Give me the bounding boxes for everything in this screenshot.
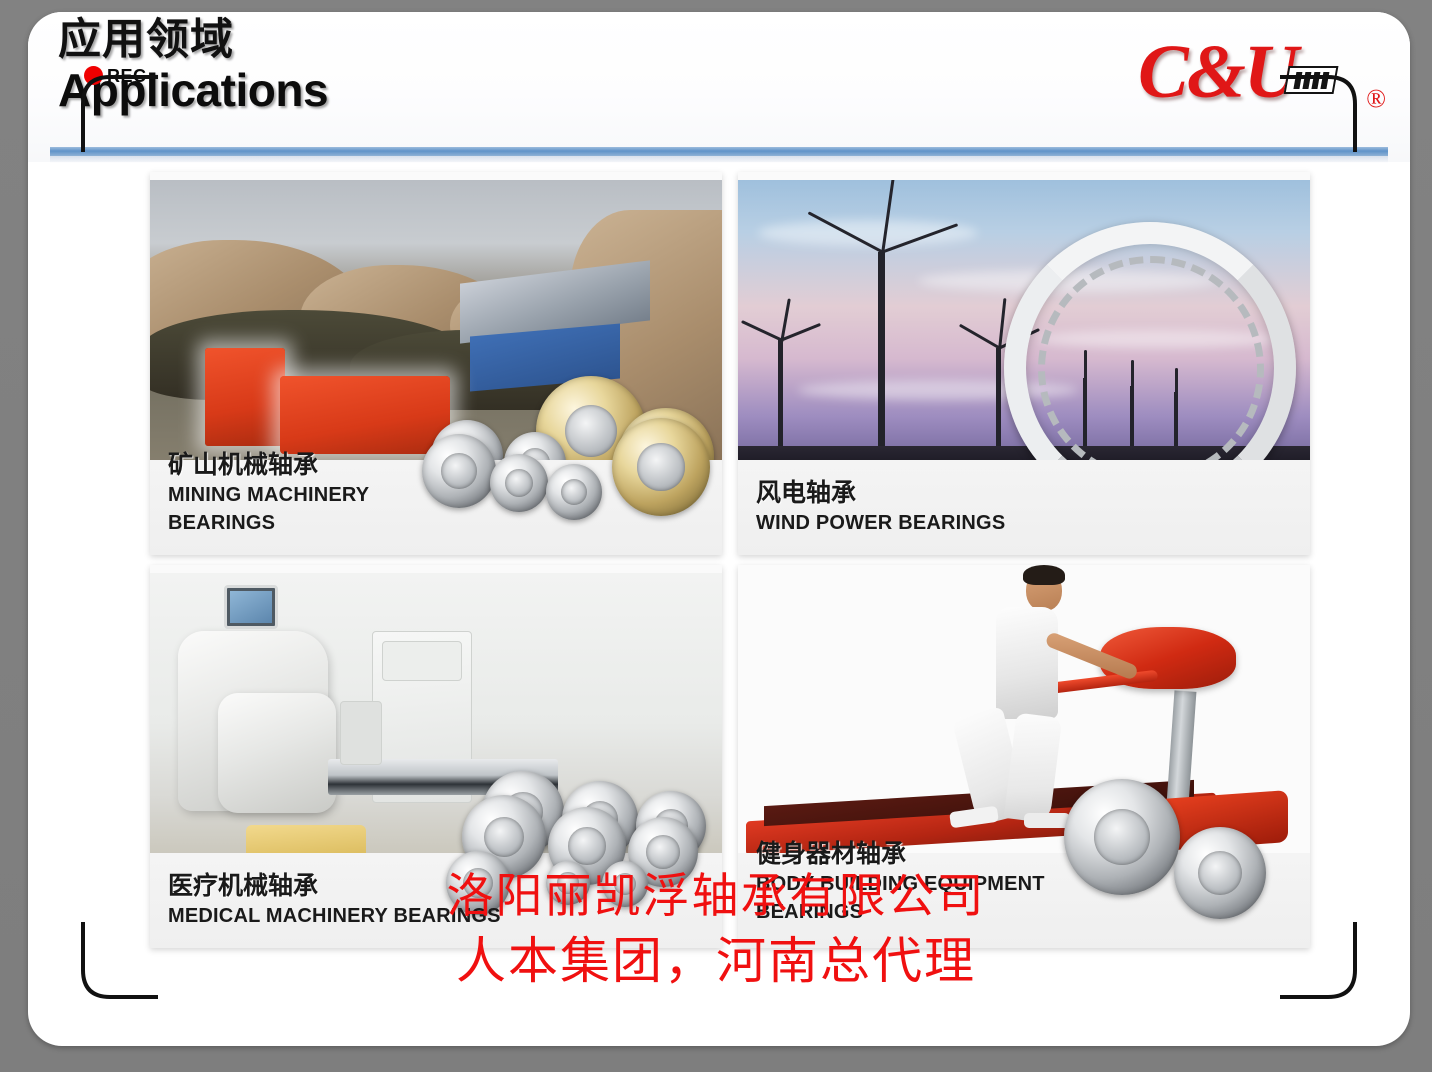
application-card-wind[interactable]: 风电轴承 WIND POWER BEARINGS bbox=[738, 172, 1310, 555]
bearing-overlay bbox=[1064, 779, 1180, 895]
card-photo-fitness bbox=[738, 565, 1310, 871]
bearing-overlay bbox=[546, 861, 590, 905]
header-divider bbox=[50, 147, 1388, 156]
card-title-cn: 健身器材轴承 bbox=[756, 839, 1045, 869]
card-title-en-1: MEDICAL MACHINERY BEARINGS bbox=[168, 904, 501, 928]
applications-grid: 矿山机械轴承 MINING MACHINERY BEARINGS bbox=[150, 172, 1310, 948]
application-card-mining[interactable]: 矿山机械轴承 MINING MACHINERY BEARINGS bbox=[150, 172, 722, 555]
card-title-cn: 矿山机械轴承 bbox=[168, 450, 369, 480]
bearing-overlay bbox=[546, 464, 602, 520]
application-card-medical[interactable]: 医疗机械轴承 MEDICAL MACHINERY BEARINGS bbox=[150, 565, 722, 948]
application-card-fitness[interactable]: 健身器材轴承 BODY BUILDING EQUIPMENT BEARINGS bbox=[738, 565, 1310, 948]
rec-indicator: REC bbox=[84, 66, 147, 85]
card-title-en-2: BEARINGS bbox=[168, 511, 369, 535]
card-photo-wind bbox=[738, 180, 1310, 468]
card-caption-wind: 风电轴承 WIND POWER BEARINGS bbox=[756, 478, 1005, 536]
bearing-overlay bbox=[490, 454, 548, 512]
card-caption-mining: 矿山机械轴承 MINING MACHINERY BEARINGS bbox=[168, 450, 369, 536]
wind-scene bbox=[738, 180, 1310, 468]
page-title-en: Applications bbox=[58, 67, 958, 113]
corner-bracket-bottom-left bbox=[80, 922, 158, 1000]
card-caption-medical: 医疗机械轴承 MEDICAL MACHINERY BEARINGS bbox=[168, 871, 501, 929]
medical-scene bbox=[150, 573, 722, 861]
fitness-scene bbox=[738, 565, 1310, 871]
rec-label: REC bbox=[107, 67, 147, 85]
card-title-en-1: WIND POWER BEARINGS bbox=[756, 511, 1005, 535]
card-title-en-2: BEARINGS bbox=[756, 900, 1045, 924]
slide-panel: 应用领域 Applications REC C&U ® bbox=[28, 12, 1410, 1046]
card-photo-medical bbox=[150, 573, 722, 861]
card-title-cn: 风电轴承 bbox=[756, 478, 1005, 508]
registered-trademark-icon: ® bbox=[1366, 86, 1386, 112]
bearing-overlay bbox=[612, 418, 710, 516]
bearing-bars-icon bbox=[1284, 66, 1339, 94]
record-dot-icon bbox=[84, 66, 103, 85]
card-title-en-1: BODY BUILDING EQUIPMENT bbox=[756, 872, 1045, 896]
bearing-overlay bbox=[1174, 827, 1266, 919]
logo-wordmark: C&U bbox=[1138, 34, 1297, 110]
card-title-cn: 医疗机械轴承 bbox=[168, 871, 501, 901]
slide-canvas: 应用领域 Applications REC C&U ® bbox=[0, 0, 1432, 1072]
header-divider-shadow bbox=[50, 156, 1388, 163]
bearing-overlay bbox=[422, 434, 496, 508]
bearing-overlay bbox=[602, 861, 648, 907]
page-title-cn: 应用领域 bbox=[58, 18, 958, 63]
card-title-en-1: MINING MACHINERY bbox=[168, 483, 369, 507]
header: 应用领域 Applications bbox=[58, 18, 958, 148]
card-caption-fitness: 健身器材轴承 BODY BUILDING EQUIPMENT BEARINGS bbox=[756, 839, 1045, 925]
brand-logo: C&U ® bbox=[1138, 34, 1388, 139]
